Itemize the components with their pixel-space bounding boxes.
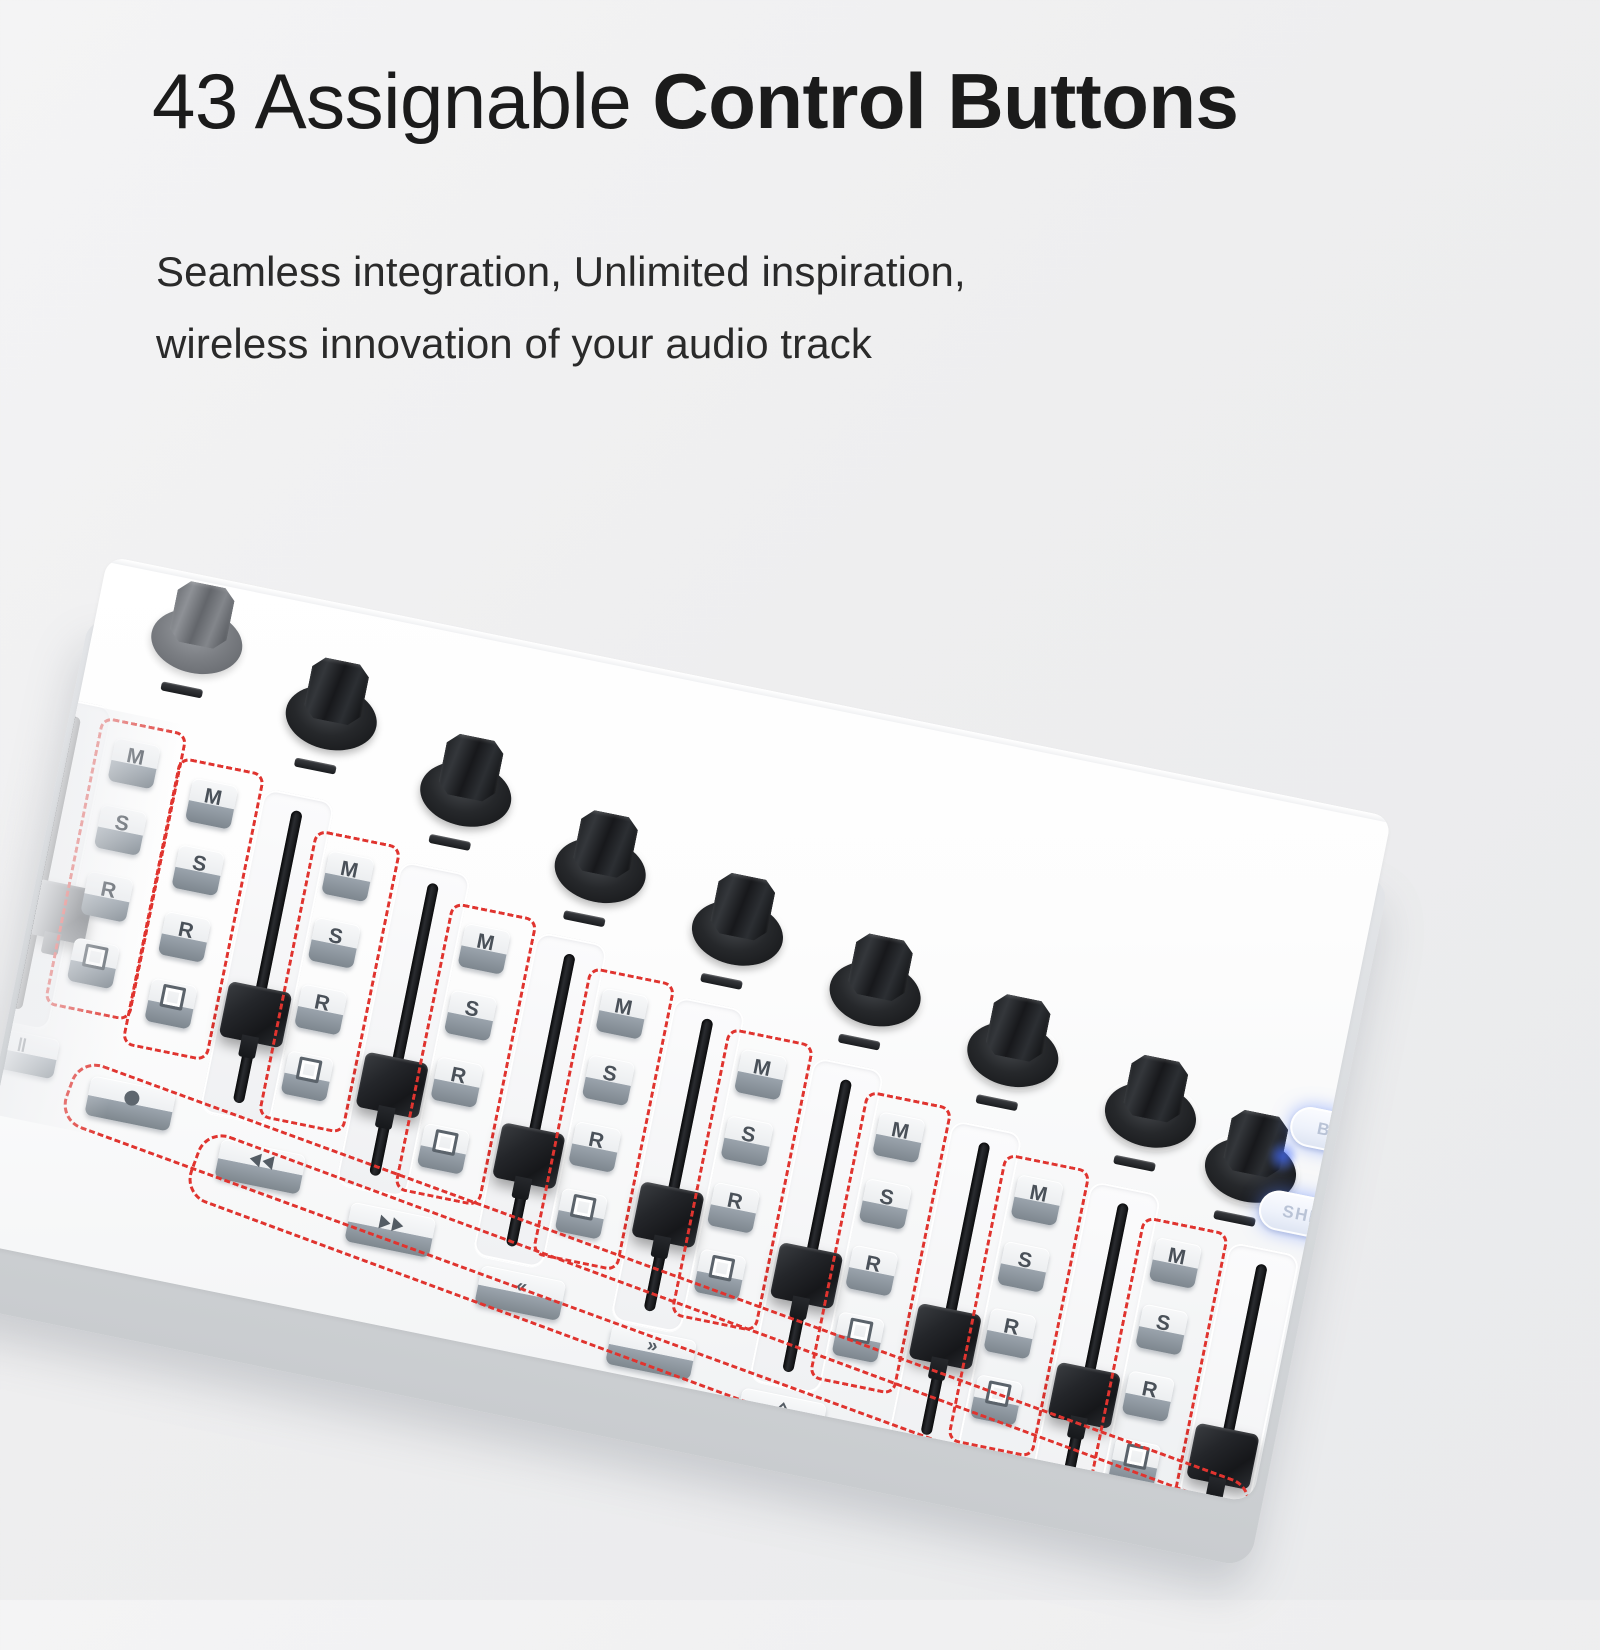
rotary-knob-1[interactable] xyxy=(279,652,387,760)
channel-8-record-button[interactable]: R xyxy=(1121,1370,1175,1422)
knob-cap xyxy=(436,731,505,803)
button-label: R xyxy=(176,918,195,942)
channel-3-solo-button[interactable]: S xyxy=(444,989,498,1041)
rewind-button[interactable] xyxy=(214,1138,306,1194)
button-label: R xyxy=(1002,1315,1021,1339)
knob-cap xyxy=(571,808,640,880)
channel-6-select-button[interactable] xyxy=(831,1311,885,1363)
subtitle-line-2: wireless innovation of your audio track xyxy=(156,308,1356,380)
next-button[interactable]: » xyxy=(605,1324,697,1380)
subtitle-line-1: Seamless integration, Unlimited inspirat… xyxy=(156,236,1356,308)
button-label: R xyxy=(313,991,332,1015)
knob-led-indicator xyxy=(700,973,743,990)
knob-led-indicator xyxy=(1213,1210,1256,1227)
channel-2-record-button[interactable]: R xyxy=(294,983,348,1035)
headline-light-text: 43 Assignable xyxy=(152,57,652,145)
knob-led-indicator xyxy=(563,910,606,927)
channel-3-select-button[interactable] xyxy=(417,1123,471,1175)
page-subtitle: Seamless integration, Unlimited inspirat… xyxy=(156,236,1356,380)
button-label: M xyxy=(339,857,360,881)
channel-5-select-button[interactable] xyxy=(693,1248,747,1300)
channel-6-record-button[interactable]: R xyxy=(845,1244,899,1296)
rotary-knob-4[interactable] xyxy=(686,867,794,975)
select-square-icon xyxy=(846,1317,873,1344)
button-label: S xyxy=(1016,1248,1034,1271)
channel-5-solo-button[interactable]: S xyxy=(720,1115,774,1167)
channel-1-select-button[interactable] xyxy=(144,977,198,1029)
channel-4-select-button[interactable] xyxy=(554,1187,608,1239)
midi-control-surface: BT SHIFT M S R M S R xyxy=(0,556,1441,1650)
button-label: S xyxy=(191,852,209,875)
channel-2-select-button[interactable] xyxy=(280,1050,334,1102)
button-label: M xyxy=(1028,1181,1049,1205)
button-label: S xyxy=(327,924,345,947)
fast-forward-icon xyxy=(375,1213,408,1235)
page-title: 43 Assignable Control Buttons xyxy=(152,62,1512,140)
next-chevron-icon: » xyxy=(645,1335,660,1359)
button-label: R xyxy=(587,1128,606,1152)
channel-7-select-button[interactable] xyxy=(970,1374,1024,1426)
rotary-knob-6[interactable] xyxy=(961,988,1069,1096)
rotary-knob-7[interactable] xyxy=(1099,1049,1207,1157)
button-label: R xyxy=(725,1189,744,1213)
button-label: M xyxy=(613,995,634,1019)
channel-5-record-button[interactable]: R xyxy=(707,1182,761,1234)
prev-chevron-icon: « xyxy=(514,1275,529,1299)
button-label: S xyxy=(601,1062,619,1085)
knob-cap xyxy=(168,579,237,651)
channel-2-solo-button[interactable]: S xyxy=(307,917,361,969)
channel-1-solo-button[interactable]: S xyxy=(171,844,225,896)
button-label: R xyxy=(1140,1378,1159,1402)
select-square-icon xyxy=(708,1254,735,1281)
button-label: S xyxy=(740,1123,758,1146)
button-label: M xyxy=(1166,1244,1187,1268)
rotary-knob-3[interactable] xyxy=(548,804,656,912)
knob-led-indicator xyxy=(1113,1155,1156,1172)
button-label: M xyxy=(751,1056,772,1080)
button-label: R xyxy=(449,1064,468,1088)
channel-3-record-button[interactable]: R xyxy=(430,1056,484,1108)
knob-led-indicator xyxy=(294,757,337,774)
button-label: M xyxy=(202,785,223,809)
channel-4-record-button[interactable]: R xyxy=(568,1121,622,1173)
fast-forward-button[interactable] xyxy=(344,1202,436,1258)
select-square-icon xyxy=(1123,1442,1150,1469)
knob-cap xyxy=(846,931,915,1003)
select-square-icon xyxy=(431,1128,458,1155)
button-label: S xyxy=(878,1185,896,1208)
button-label: M xyxy=(475,930,496,954)
channel-7-record-button[interactable]: R xyxy=(983,1307,1037,1359)
channel-4-solo-button[interactable]: S xyxy=(582,1054,636,1106)
rotary-knob-2[interactable] xyxy=(414,728,522,836)
button-label: M xyxy=(890,1118,911,1142)
channel-7-solo-button[interactable]: S xyxy=(997,1241,1051,1293)
knob-led-indicator xyxy=(428,834,471,851)
channel-1-record-button[interactable]: R xyxy=(158,911,212,963)
channel-5-mute-button[interactable]: M xyxy=(734,1048,788,1100)
button-label: S xyxy=(1154,1311,1172,1334)
select-square-icon xyxy=(295,1056,322,1083)
select-square-icon xyxy=(159,983,186,1010)
button-label: R xyxy=(864,1252,883,1276)
device-top-panel: BT SHIFT M S R M S R xyxy=(0,556,1392,1503)
channel-3-mute-button[interactable]: M xyxy=(457,923,511,975)
channel-6-solo-button[interactable]: S xyxy=(858,1178,912,1230)
rotary-knob-5[interactable] xyxy=(823,928,931,1036)
headline-bold-text: Control Buttons xyxy=(652,57,1238,145)
rotary-knob-master[interactable] xyxy=(145,575,253,683)
knob-cap xyxy=(708,870,777,942)
channel-6-mute-button[interactable]: M xyxy=(872,1111,926,1163)
knob-led-indicator xyxy=(975,1094,1018,1111)
select-square-icon xyxy=(569,1193,596,1220)
previous-button[interactable]: « xyxy=(474,1265,566,1321)
channel-8-solo-button[interactable]: S xyxy=(1135,1304,1189,1356)
button-label: S xyxy=(463,997,481,1020)
knob-led-indicator xyxy=(838,1033,881,1050)
channel-4-mute-button[interactable]: M xyxy=(595,988,649,1040)
channel-8-mute-button[interactable]: M xyxy=(1149,1237,1203,1289)
knob-cap xyxy=(302,655,371,727)
knob-cap xyxy=(984,992,1053,1064)
record-dot-icon xyxy=(123,1089,141,1107)
knob-led-indicator xyxy=(160,681,203,698)
channel-7-mute-button[interactable]: M xyxy=(1010,1174,1064,1226)
select-square-icon xyxy=(984,1380,1011,1407)
channel-2-mute-button[interactable]: M xyxy=(321,850,375,902)
knob-cap xyxy=(1121,1052,1190,1124)
rewind-icon xyxy=(245,1150,278,1172)
channel-1-mute-button[interactable]: M xyxy=(185,778,239,830)
